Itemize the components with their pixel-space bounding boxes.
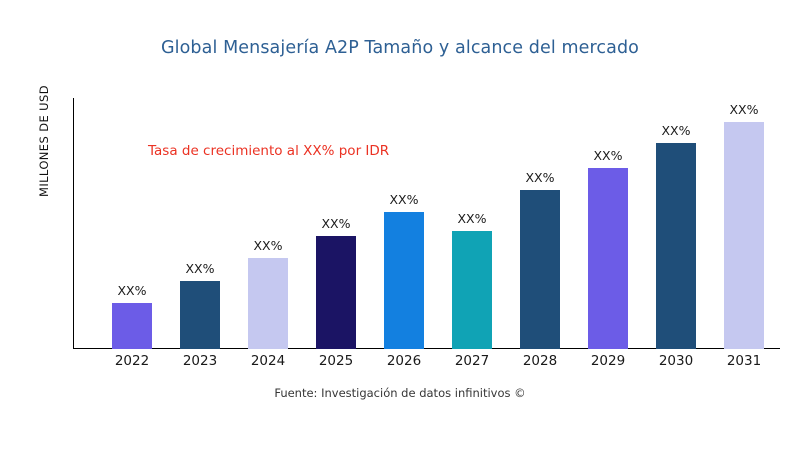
chart-figure: Global Mensajería A2P Tamaño y alcance d… [0,0,800,450]
x-axis-tick-label: 2024 [234,353,302,369]
bar-group: XX%2026 [370,98,438,349]
bar-value-label: XX% [710,102,778,117]
x-axis-tick-label: 2025 [302,353,370,369]
x-axis-tick-label: 2027 [438,353,506,369]
bar-value-label: XX% [98,283,166,298]
bar-value-label: XX% [642,123,710,138]
growth-rate-annotation: Tasa de crecimiento al XX% por IDR [148,143,389,159]
source-caption: Fuente: Investigación de datos infinitiv… [0,386,800,400]
bar-value-label: XX% [506,170,574,185]
bar[interactable] [248,258,288,349]
bar[interactable] [520,190,560,349]
bar[interactable] [384,212,424,349]
bar-value-label: XX% [302,216,370,231]
bar-value-label: XX% [438,211,506,226]
bar-group: XX%2030 [642,98,710,349]
x-axis-tick-label: 2029 [574,353,642,369]
bar-group: XX%2024 [234,98,302,349]
plot-area: XX%2022XX%2023XX%2024XX%2025XX%2026XX%20… [73,98,780,349]
bar-value-label: XX% [370,192,438,207]
bar[interactable] [112,303,152,349]
x-axis-tick-label: 2022 [98,353,166,369]
bar-group: XX%2023 [166,98,234,349]
page-title: Global Mensajería A2P Tamaño y alcance d… [0,38,800,58]
bar-group: XX%2027 [438,98,506,349]
y-axis-label: MILLONES DE USD [37,11,51,271]
bar[interactable] [656,143,696,349]
bar-series: XX%2022XX%2023XX%2024XX%2025XX%2026XX%20… [73,98,780,349]
x-axis-tick-label: 2028 [506,353,574,369]
bar[interactable] [452,231,492,349]
bar-group: XX%2029 [574,98,642,349]
bar[interactable] [724,122,764,349]
x-axis-tick-label: 2023 [166,353,234,369]
bar-group: XX%2022 [98,98,166,349]
bar-value-label: XX% [234,238,302,253]
bar[interactable] [180,281,220,349]
x-axis-tick-label: 2026 [370,353,438,369]
bar-value-label: XX% [574,148,642,163]
x-axis-tick-label: 2031 [710,353,778,369]
x-axis-tick-label: 2030 [642,353,710,369]
bar[interactable] [588,168,628,349]
bar-value-label: XX% [166,261,234,276]
bar[interactable] [316,236,356,349]
bar-group: XX%2025 [302,98,370,349]
bar-group: XX%2031 [710,98,778,349]
bar-group: XX%2028 [506,98,574,349]
